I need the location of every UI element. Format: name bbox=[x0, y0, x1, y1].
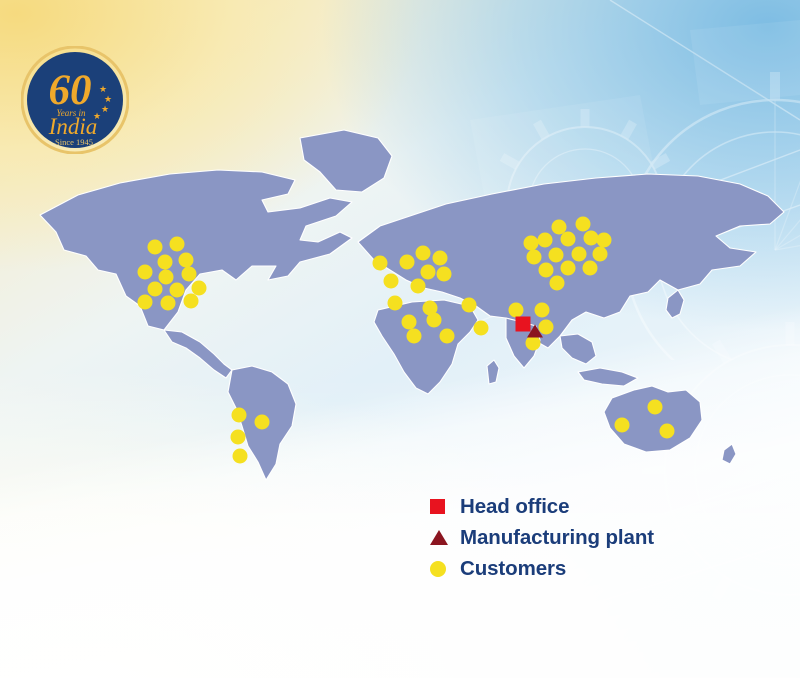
customer-marker bbox=[421, 265, 436, 280]
world-map bbox=[0, 120, 800, 520]
customer-marker bbox=[561, 232, 576, 247]
customer-marker bbox=[184, 294, 199, 309]
landmass-indonesia bbox=[578, 368, 638, 386]
landmass-greenland bbox=[300, 130, 392, 192]
customer-marker bbox=[384, 274, 399, 289]
customer-marker bbox=[179, 253, 194, 268]
customer-marker bbox=[233, 449, 248, 464]
head-office-india bbox=[516, 317, 531, 332]
customer-marker bbox=[535, 303, 550, 318]
customer-marker bbox=[373, 256, 388, 271]
svg-text:★: ★ bbox=[104, 94, 112, 104]
global-presence-map-page: 60 ★ ★ ★ ★ Years in India Since 1945 bbox=[0, 0, 800, 678]
customer-marker bbox=[462, 298, 477, 313]
triangle-marker-icon bbox=[430, 530, 460, 545]
customer-marker bbox=[524, 236, 539, 251]
map-legend: Head office Manufacturing plant Customer… bbox=[430, 491, 730, 584]
customer-marker bbox=[615, 418, 630, 433]
svg-text:★: ★ bbox=[101, 104, 109, 114]
customer-marker bbox=[170, 237, 185, 252]
landmass-japan bbox=[666, 290, 684, 318]
customer-marker bbox=[550, 276, 565, 291]
customer-marker bbox=[576, 217, 591, 232]
legend-label-customers: Customers bbox=[460, 557, 566, 581]
customer-marker bbox=[583, 261, 598, 276]
customer-marker bbox=[526, 336, 541, 351]
customer-marker bbox=[182, 267, 197, 282]
world-map-svg bbox=[0, 120, 800, 520]
legend-label-head-office: Head office bbox=[460, 495, 569, 519]
customer-marker bbox=[593, 247, 608, 262]
customer-marker bbox=[416, 246, 431, 261]
landmass-southeast-asia bbox=[560, 334, 596, 364]
legend-item-manufacturing-plant: Manufacturing plant bbox=[430, 522, 730, 553]
customer-marker bbox=[138, 265, 153, 280]
customer-marker bbox=[161, 296, 176, 311]
customer-marker bbox=[411, 279, 426, 294]
customer-marker bbox=[440, 329, 455, 344]
customer-marker bbox=[648, 400, 663, 415]
legend-item-head-office: Head office bbox=[430, 491, 730, 522]
customer-marker bbox=[474, 321, 489, 336]
customer-marker bbox=[527, 250, 542, 265]
customer-marker bbox=[561, 261, 576, 276]
customer-marker bbox=[148, 240, 163, 255]
customer-marker bbox=[400, 255, 415, 270]
customer-marker bbox=[437, 267, 452, 282]
customer-marker bbox=[148, 282, 163, 297]
landmass-central-america bbox=[164, 330, 232, 378]
customer-marker bbox=[427, 313, 442, 328]
customer-marker bbox=[572, 247, 587, 262]
customer-marker bbox=[158, 255, 173, 270]
customer-marker bbox=[538, 233, 553, 248]
customer-marker bbox=[549, 248, 564, 263]
legend-label-manufacturing-plant: Manufacturing plant bbox=[460, 526, 654, 550]
customer-marker bbox=[255, 415, 270, 430]
logo-number: 60 bbox=[49, 67, 92, 114]
landmass-new-zealand bbox=[722, 444, 736, 464]
square-marker-icon bbox=[430, 499, 460, 514]
customer-marker bbox=[402, 315, 417, 330]
customer-marker bbox=[170, 283, 185, 298]
customer-marker bbox=[597, 233, 612, 248]
customer-marker bbox=[232, 408, 247, 423]
customer-marker bbox=[138, 295, 153, 310]
svg-text:★: ★ bbox=[99, 84, 107, 94]
customer-marker bbox=[231, 430, 246, 445]
customer-marker bbox=[407, 329, 422, 344]
landmass-madagascar bbox=[487, 360, 499, 384]
circle-marker-icon bbox=[430, 561, 460, 577]
customer-marker bbox=[159, 270, 174, 285]
customer-marker bbox=[433, 251, 448, 266]
customer-marker bbox=[539, 263, 554, 278]
customer-marker bbox=[509, 303, 524, 318]
legend-item-customers: Customers bbox=[430, 553, 730, 584]
customer-marker bbox=[388, 296, 403, 311]
customer-marker bbox=[660, 424, 675, 439]
